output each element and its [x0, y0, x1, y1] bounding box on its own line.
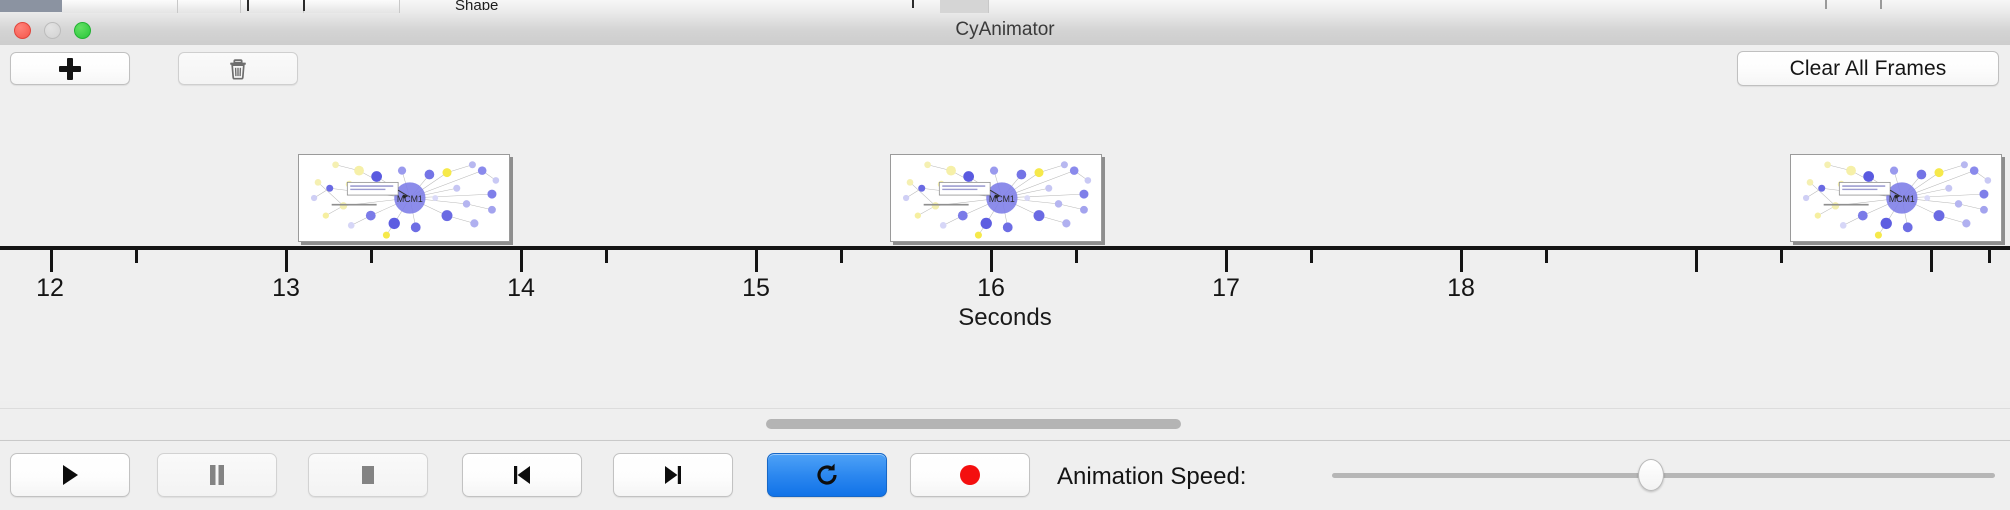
- axis-tick-minor: [1988, 250, 1991, 263]
- loop-button[interactable]: [767, 453, 887, 497]
- playback-toolbar: Animation Speed:: [0, 440, 2010, 510]
- background-strip-tick: [1880, 0, 1882, 9]
- axis-tick-label: 12: [36, 274, 64, 303]
- pause-icon: [206, 463, 228, 487]
- background-strip-tick: [247, 0, 249, 11]
- animation-speed-label: Animation Speed:: [1057, 463, 1246, 491]
- background-strip-tick: [303, 0, 305, 11]
- play-button[interactable]: [10, 453, 130, 497]
- axis-tick-label: 17: [1212, 274, 1240, 303]
- frames-panel: MCM1: [0, 92, 2010, 246]
- axis-tick-major: [1695, 250, 1698, 272]
- axis-line: [0, 246, 2010, 250]
- axis-tick-label: 16: [977, 274, 1005, 303]
- background-strip-tick: [912, 0, 914, 8]
- frame-thumbnail: [1791, 155, 2001, 241]
- background-strip-tick: [1825, 0, 1827, 9]
- window-title: CyAnimator: [0, 14, 2010, 45]
- loop-icon: [814, 462, 840, 488]
- clear-all-frames-button[interactable]: Clear All Frames: [1737, 51, 1999, 86]
- background-strip-segment: [62, 0, 178, 13]
- background-strip-segment: [940, 0, 989, 13]
- trash-icon: [228, 57, 248, 81]
- title-bar[interactable]: CyAnimator: [0, 14, 2010, 46]
- axis-tick-label: 15: [742, 274, 770, 303]
- background-window-menu-text: Shape: [455, 0, 498, 10]
- axis-tick-minor: [1075, 250, 1078, 263]
- axis-tick-major: [50, 250, 53, 272]
- add-frame-button[interactable]: [10, 52, 130, 85]
- axis-tick-major: [1460, 250, 1463, 272]
- frame-thumbnail: [891, 155, 1101, 241]
- frame-toolbar: Clear All Frames: [0, 45, 2010, 93]
- slider-thumb[interactable]: [1638, 459, 1664, 491]
- axis-tick-minor: [1545, 250, 1548, 263]
- axis-tick-label: 13: [272, 274, 300, 303]
- play-icon: [59, 463, 81, 487]
- axis-tick-major: [520, 250, 523, 272]
- axis-tick-major: [755, 250, 758, 272]
- record-icon: [958, 463, 982, 487]
- timeline-axis[interactable]: 12 13 14 15 16 17 18 Seconds: [0, 246, 2010, 401]
- axis-tick-label: 14: [507, 274, 535, 303]
- axis-tick-minor: [1780, 250, 1783, 263]
- previous-icon: [510, 463, 534, 487]
- axis-tick-label: 18: [1447, 274, 1475, 303]
- timeline-frame[interactable]: [890, 154, 1102, 242]
- timeline-scrollbar[interactable]: [0, 408, 2010, 439]
- axis-title: Seconds: [0, 304, 2010, 332]
- background-strip-segment: [178, 0, 241, 13]
- pause-button[interactable]: [157, 453, 277, 497]
- background-strip-segment: [304, 0, 400, 13]
- axis-tick-major: [285, 250, 288, 272]
- axis-tick-major: [1930, 250, 1933, 272]
- record-button[interactable]: [910, 453, 1030, 497]
- axis-tick-major: [990, 250, 993, 272]
- axis-tick-minor: [1310, 250, 1313, 263]
- background-strip-segment: [241, 0, 304, 13]
- frame-thumbnail: [299, 155, 509, 241]
- plus-icon: [59, 58, 81, 80]
- cyanimator-window: Shape CyAnimator Clear All Frames: [0, 0, 2010, 510]
- next-icon: [661, 463, 685, 487]
- clear-all-frames-label: Clear All Frames: [1790, 57, 1947, 81]
- axis-tick-minor: [840, 250, 843, 263]
- animation-speed-slider[interactable]: [1332, 471, 1995, 479]
- stop-icon: [357, 463, 379, 487]
- timeline-frame[interactable]: [298, 154, 510, 242]
- stop-button[interactable]: [308, 453, 428, 497]
- background-strip-segment: [0, 0, 62, 12]
- axis-tick-minor: [370, 250, 373, 263]
- axis-tick-minor: [605, 250, 608, 263]
- axis-tick-major: [1225, 250, 1228, 272]
- axis-tick-minor: [135, 250, 138, 263]
- timeline-frame[interactable]: [1790, 154, 2002, 242]
- next-button[interactable]: [613, 453, 733, 497]
- background-window-strip: Shape: [0, 0, 2010, 15]
- delete-frame-button[interactable]: [178, 52, 298, 85]
- previous-button[interactable]: [462, 453, 582, 497]
- scrollbar-thumb[interactable]: [766, 419, 1181, 429]
